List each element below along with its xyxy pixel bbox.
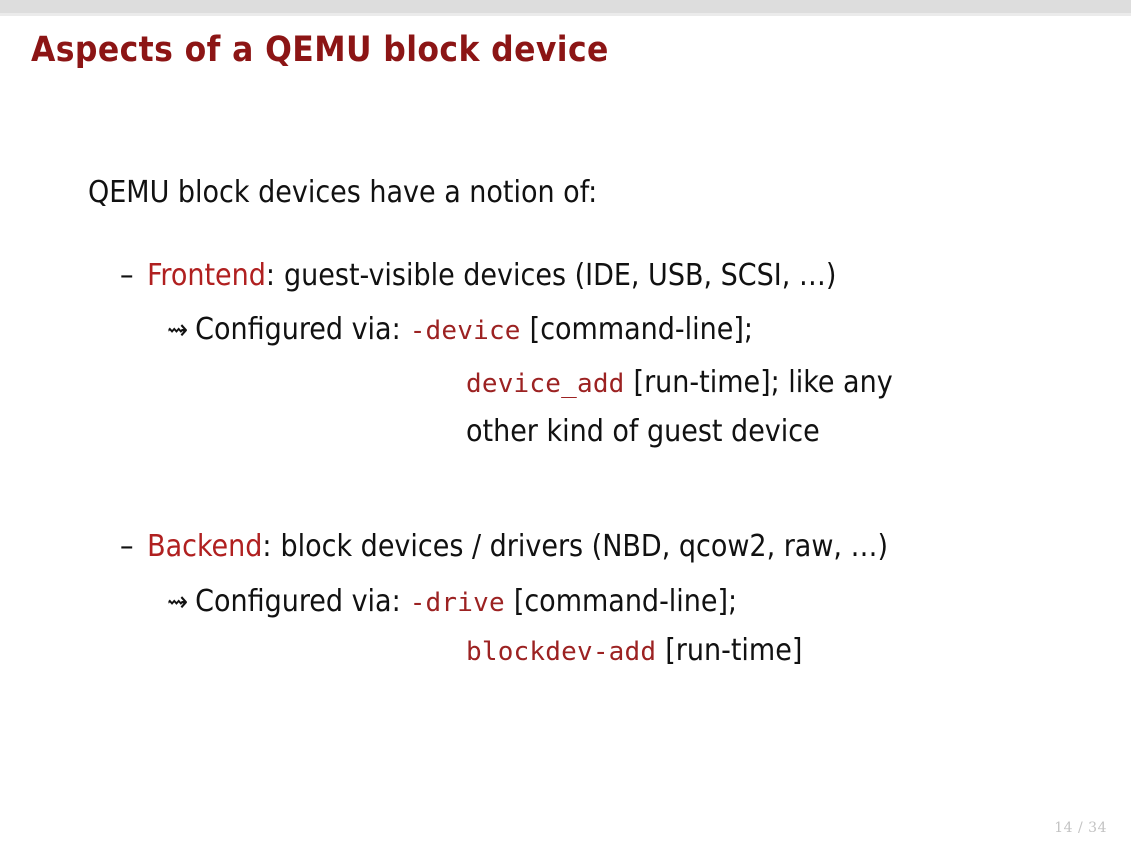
bullet-colon: :: [262, 529, 271, 564]
code-device-add: device_add: [466, 369, 625, 399]
bullet-description-frontend: guest-visible devices (IDE, USB, SCSI, ……: [284, 258, 836, 293]
intro-text: QEMU block devices have a notion of:: [88, 178, 597, 208]
subbullet-label: Configured via:: [195, 312, 401, 347]
subbullet-frontend-configured: ⇝Configured via:-device[command-line];: [167, 315, 753, 345]
continuation-blockdev-add: blockdev-add[run-time]: [466, 636, 802, 666]
continuation-text: other kind of guest device: [466, 414, 820, 449]
bullet-keyword-backend: Backend: [147, 529, 262, 564]
bullet-colon: :: [266, 258, 275, 293]
bullet-description-backend: block devices / drivers (NBD, qcow2, raw…: [281, 529, 889, 564]
slide-content: QEMU block devices have a notion of: – F…: [0, 0, 1131, 848]
code-blockdev-add: blockdev-add: [466, 637, 656, 667]
bullet-marker-icon: –: [120, 258, 134, 293]
continuation-text: [run-time]; like any: [634, 365, 893, 400]
subbullet-tail: [command-line];: [530, 312, 753, 347]
page-number: 14 / 34: [1054, 820, 1107, 836]
squiggle-arrow-icon: ⇝: [167, 585, 188, 618]
subbullet-label: Configured via:: [195, 584, 401, 619]
code-device-option: -device: [410, 316, 521, 346]
continuation-guest-device: other kind of guest device: [466, 417, 820, 447]
bullet-backend: – Backend:block devices / drivers (NBD, …: [120, 532, 888, 562]
squiggle-arrow-icon: ⇝: [167, 313, 188, 346]
continuation-text: [run-time]: [665, 633, 802, 668]
continuation-device-add: device_add[run-time]; like any: [466, 368, 893, 398]
subbullet-tail: [command-line];: [514, 584, 737, 619]
subbullet-backend-configured: ⇝Configured via:-drive[command-line];: [167, 587, 737, 617]
bullet-keyword-frontend: Frontend: [147, 258, 266, 293]
code-drive-option: -drive: [410, 588, 505, 618]
bullet-frontend: – Frontend:guest-visible devices (IDE, U…: [120, 261, 836, 291]
bullet-marker-icon: –: [120, 529, 134, 564]
